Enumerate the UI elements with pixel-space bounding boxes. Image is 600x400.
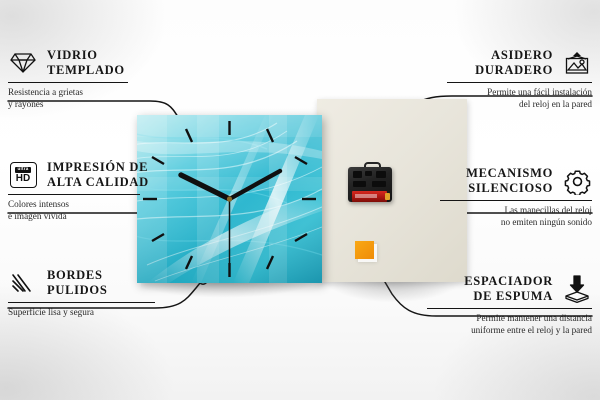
diamond-icon [8, 48, 38, 78]
foam-spacer-icon [562, 274, 592, 304]
feature-asidero-duradero: ASIDERODURADERO Permite una fácil instal… [447, 48, 592, 111]
ultra-hd-icon: ultra HD [8, 160, 38, 190]
feature-bordes-pulidos: BORDESPULIDOS Superficie lisa y segura [8, 268, 155, 318]
ultra-hd-icon-main-label: HD [16, 174, 30, 184]
clock-face-artwork [137, 115, 322, 283]
product-infographic: VIDRIOTEMPLADO Resistencia a grietas y r… [0, 0, 600, 400]
clock-mechanism [348, 162, 392, 202]
battery [352, 191, 387, 202]
feature-title: VIDRIOTEMPLADO [47, 48, 125, 79]
picture-hanger-icon [562, 48, 592, 78]
feature-mecanismo-silencioso: MECANISMOSILENCIOSO Las manecillas del r… [440, 166, 592, 229]
feature-description: Colores intensos e imagen vívida [8, 198, 140, 223]
feature-rule [8, 194, 140, 195]
feature-rule [427, 308, 592, 309]
feature-espaciador-de-espuma: ESPACIADORDE ESPUMA Permite mantener una… [427, 274, 592, 337]
feature-description: Superficie lisa y segura [8, 306, 155, 319]
battery-label [355, 194, 377, 198]
polished-edges-icon [8, 268, 38, 298]
product-scene [137, 100, 467, 300]
feature-rule [440, 200, 592, 201]
feature-title: IMPRESIÓN DEALTA CALIDAD [47, 160, 149, 191]
feature-title: MECANISMOSILENCIOSO [466, 166, 553, 197]
mechanism-slot [353, 181, 366, 187]
gear-icon [562, 166, 592, 196]
ultra-hd-icon-small-label: ultra [15, 167, 31, 173]
feature-impresion-alta-calidad: ultra HD IMPRESIÓN DEALTA CALIDAD Colore… [8, 160, 140, 223]
feature-description: Resistencia a grietas y rayones [8, 86, 128, 111]
mechanism-slot [365, 171, 372, 176]
feature-rule [8, 302, 155, 303]
mechanism-slot [353, 171, 362, 178]
foam-spacer [355, 241, 374, 259]
battery-positive-cap [385, 193, 390, 200]
feature-title: BORDESPULIDOS [47, 268, 107, 299]
wall-clock [137, 115, 322, 283]
feature-title: ESPACIADORDE ESPUMA [464, 274, 553, 305]
feature-description: Permite una fácil instalación del reloj … [447, 86, 592, 111]
mechanism-slot [376, 171, 386, 178]
feature-description: Permite mantener una distancia uniforme … [427, 312, 592, 337]
feature-description: Las manecillas del reloj no emiten ningú… [440, 204, 592, 229]
mechanism-body [348, 167, 392, 202]
feature-title: ASIDERODURADERO [475, 48, 553, 79]
feature-rule [8, 82, 128, 83]
feature-rule [447, 82, 592, 83]
feature-vidrio-templado: VIDRIOTEMPLADO Resistencia a grietas y r… [8, 48, 128, 111]
mechanism-slot [372, 181, 386, 187]
